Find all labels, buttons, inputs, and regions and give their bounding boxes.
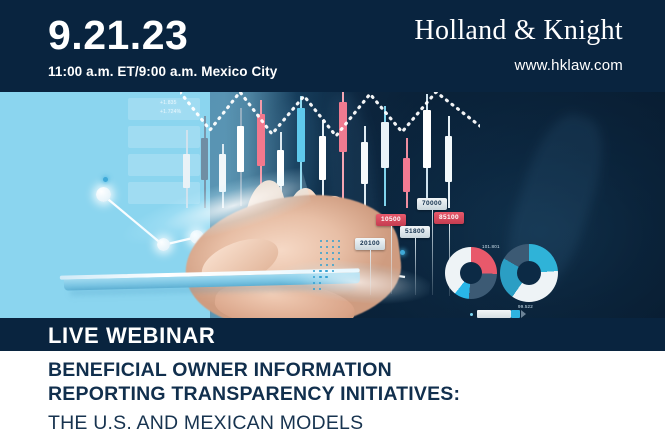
- title-line-3: THE U.S. AND MEXICAN MODELS: [48, 412, 648, 435]
- callout-value: 20100: [355, 238, 385, 250]
- webinar-time: 11:00 a.m. ET/9:00 a.m. Mexico City: [48, 64, 277, 79]
- bar-cap: [511, 310, 520, 318]
- brand-logo-text: Holland & Knight: [414, 16, 623, 47]
- poster-header: 9.21.23 11:00 a.m. ET/9:00 a.m. Mexico C…: [0, 0, 665, 92]
- date-block: 9.21.23 11:00 a.m. ET/9:00 a.m. Mexico C…: [48, 14, 277, 79]
- data-callout: 20100: [355, 232, 385, 250]
- graph-node: [96, 187, 111, 202]
- title-block: BENEFICIAL OWNER INFORMATION REPORTING T…: [48, 359, 648, 435]
- data-callout: 85100: [434, 206, 464, 224]
- webinar-promo-poster: 9.21.23 11:00 a.m. ET/9:00 a.m. Mexico C…: [0, 0, 665, 435]
- title-line-2: REPORTING TRANSPARENCY INITIATIVES:: [48, 383, 648, 407]
- dotted-trend-line: [180, 92, 480, 146]
- bar-bullet: [470, 313, 473, 316]
- webinar-date: 9.21.23: [48, 14, 277, 57]
- graph-node-small: [400, 250, 405, 255]
- bar-arrow-icon: [521, 310, 526, 318]
- hero-image: +1.835 +1.724%: [0, 92, 665, 318]
- donut-chart: [500, 244, 558, 302]
- graph-node: [157, 238, 170, 251]
- horizontal-bar-chart: [470, 310, 565, 318]
- live-webinar-band: LIVE WEBINAR: [0, 318, 665, 351]
- callout-value: 51800: [400, 226, 430, 238]
- live-webinar-label: LIVE WEBINAR: [48, 323, 215, 349]
- graph-node-small: [103, 177, 108, 182]
- bar-track: [477, 310, 511, 318]
- donut-label: 99.522: [518, 304, 533, 309]
- data-callout: 51800: [400, 220, 430, 238]
- donut-chart: [445, 247, 497, 299]
- title-line-1: BENEFICIAL OWNER INFORMATION: [48, 359, 648, 383]
- donut-label: 101.801: [482, 244, 500, 249]
- brand-website-link[interactable]: www.hklaw.com: [414, 57, 623, 74]
- callout-value: 85100: [434, 212, 464, 224]
- brand-block: Holland & Knight www.hklaw.com: [414, 16, 623, 74]
